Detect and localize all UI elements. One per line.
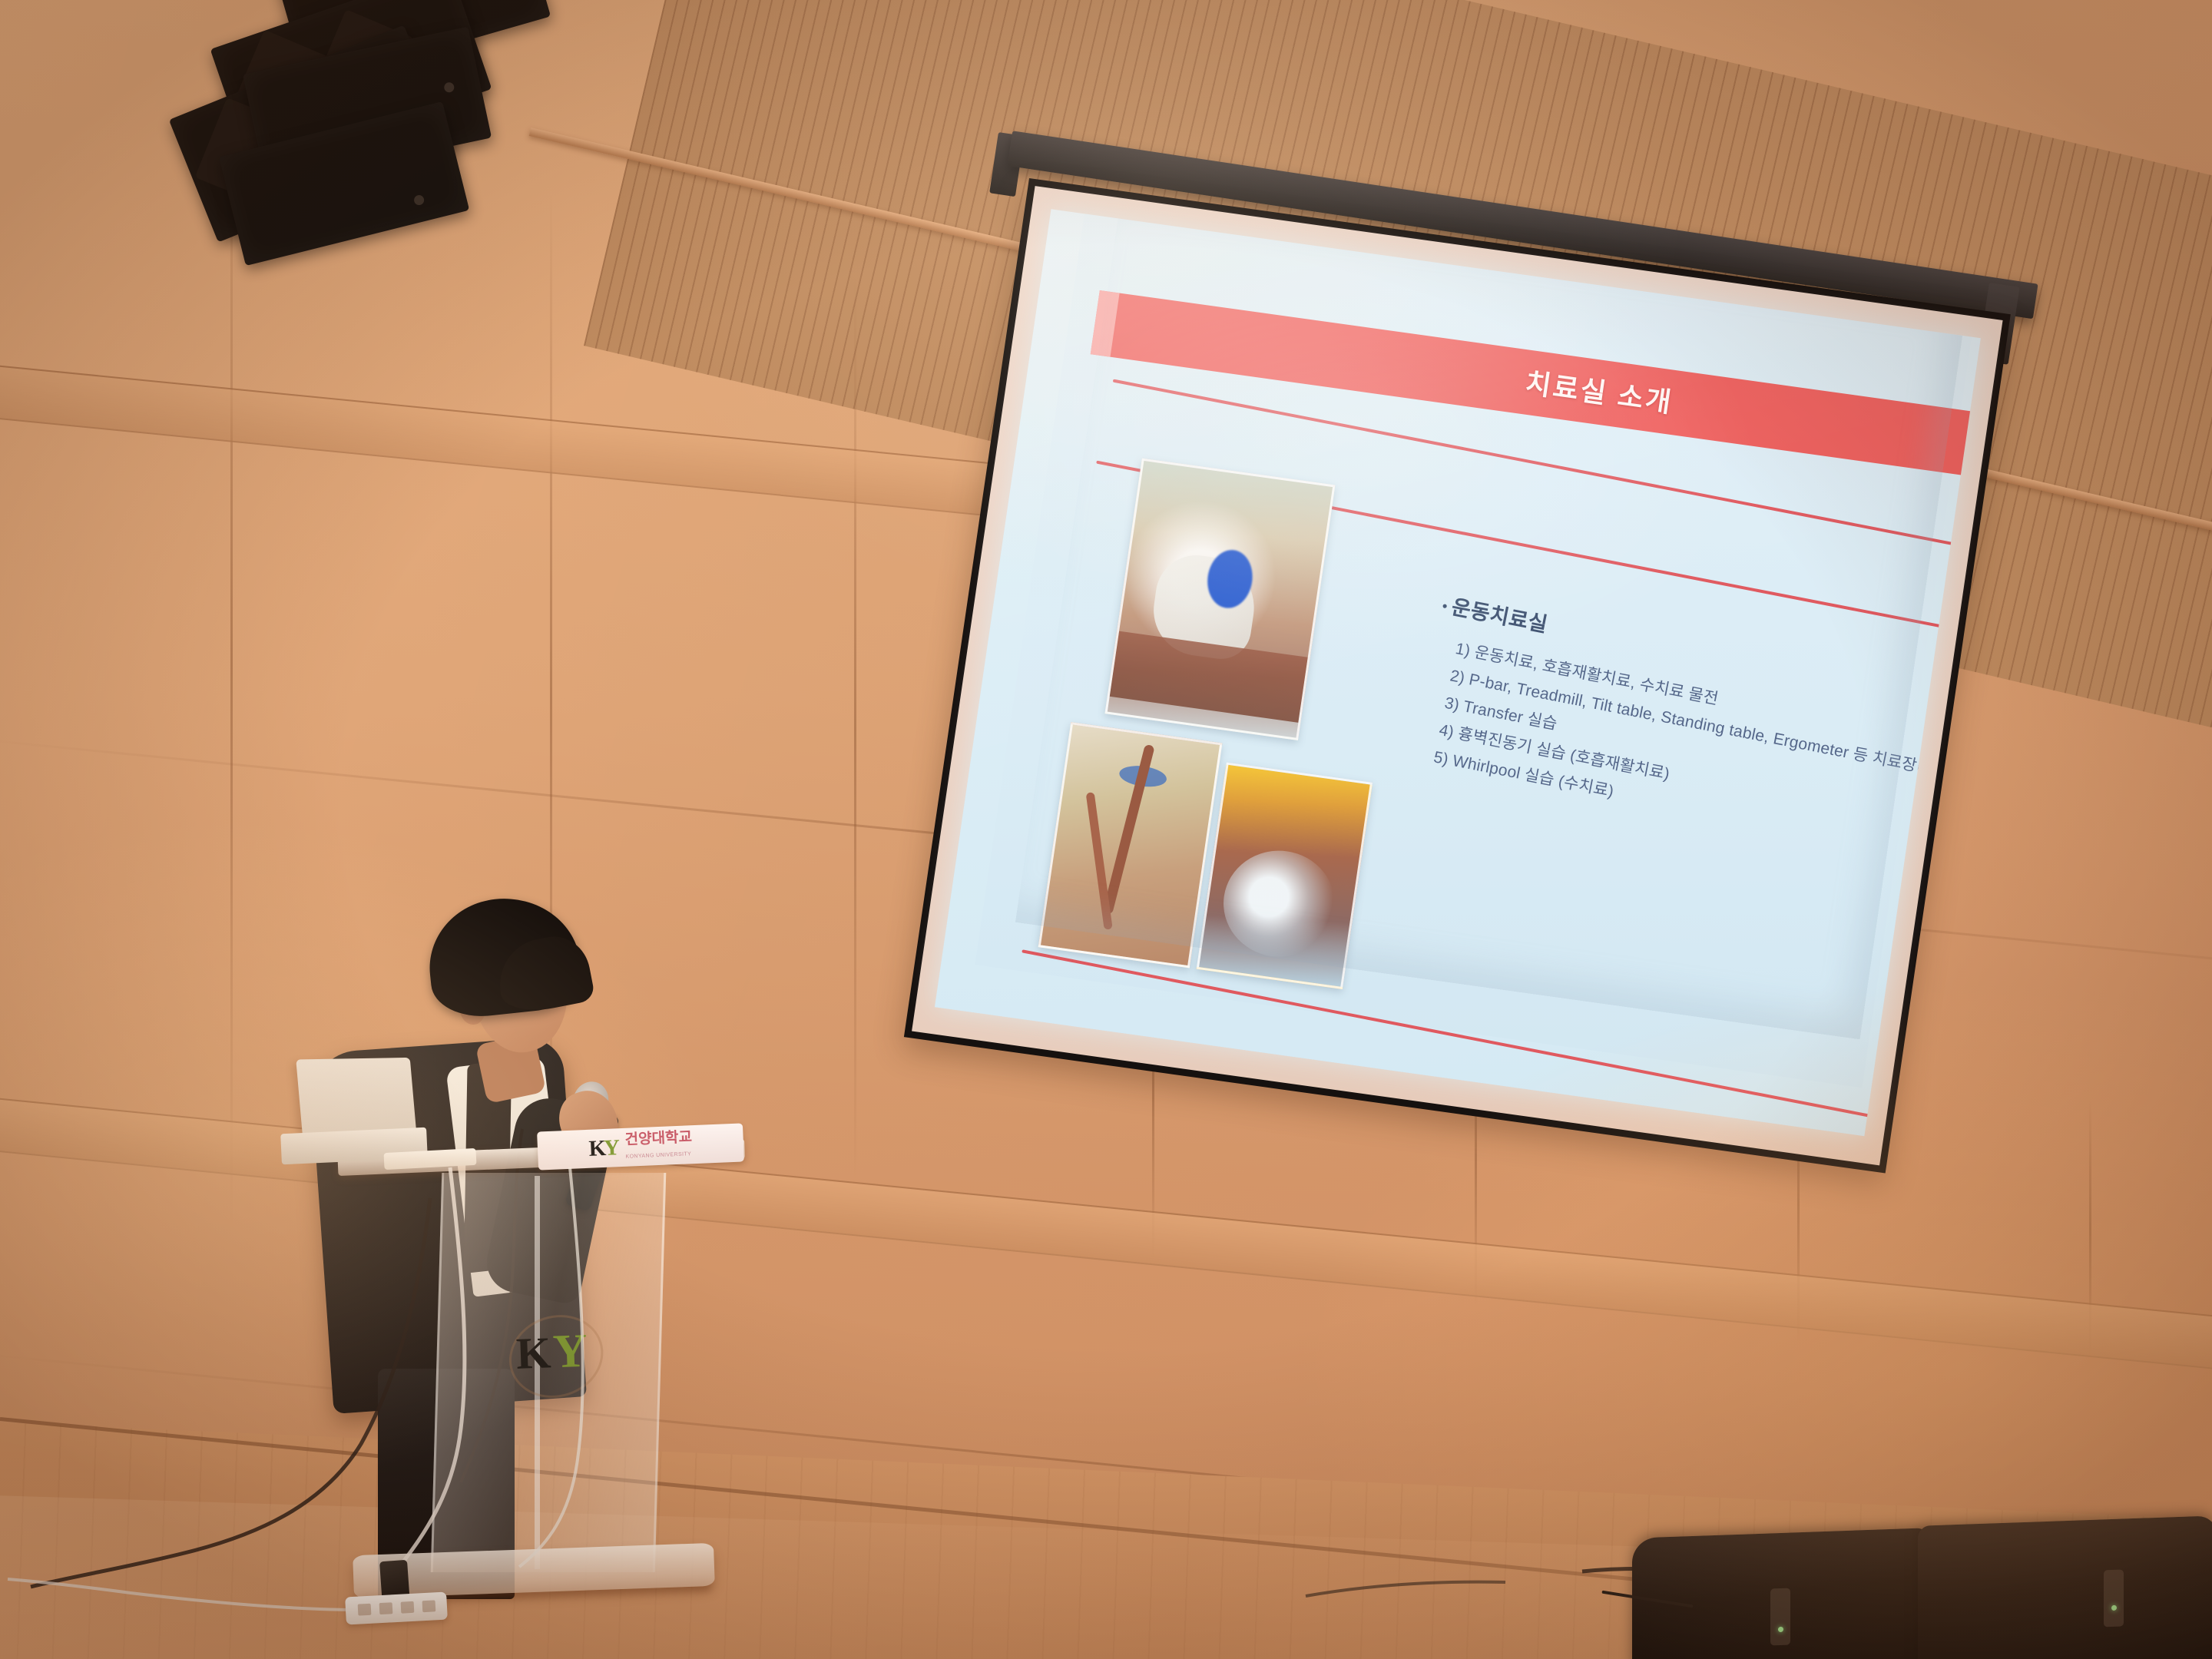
slide-body: 운동치료실 1) 운동치료, 호흡재활치료, 수치료 물전 2) P-bar, … <box>1406 588 1981 875</box>
projection-screen: 치료실 소개 <box>904 178 2011 1173</box>
ky-logo-k: K <box>588 1136 604 1161</box>
stage-monitor <box>1632 1528 1928 1659</box>
power-strip <box>345 1592 448 1625</box>
ky-emblem-y: Y <box>552 1324 588 1380</box>
ceiling-speaker-array <box>154 0 707 315</box>
presentation-slide: 치료실 소개 <box>975 214 1972 1088</box>
screen-surface: 치료실 소개 <box>935 209 1981 1136</box>
auditorium-photo-scene: 치료실 소개 <box>0 0 2212 1659</box>
ky-logo-icon: KY <box>588 1135 618 1162</box>
laptop-lid <box>296 1058 416 1139</box>
wall-seam <box>854 276 856 1183</box>
ky-emblem-k: K <box>515 1327 548 1379</box>
slide-photo <box>1038 722 1223 968</box>
ky-logo-y: Y <box>603 1135 618 1161</box>
stage-monitor <box>1918 1515 2212 1659</box>
slide-photo <box>1197 763 1373 990</box>
slide-photo <box>1104 459 1335 740</box>
ky-emblem-icon: K Y <box>510 1305 605 1400</box>
university-name-english: KONYANG UNIVERSITY <box>625 1151 691 1160</box>
university-name-korean: 건양대학교 <box>624 1129 692 1148</box>
stage-monitor-speakers <box>1632 1505 2212 1659</box>
